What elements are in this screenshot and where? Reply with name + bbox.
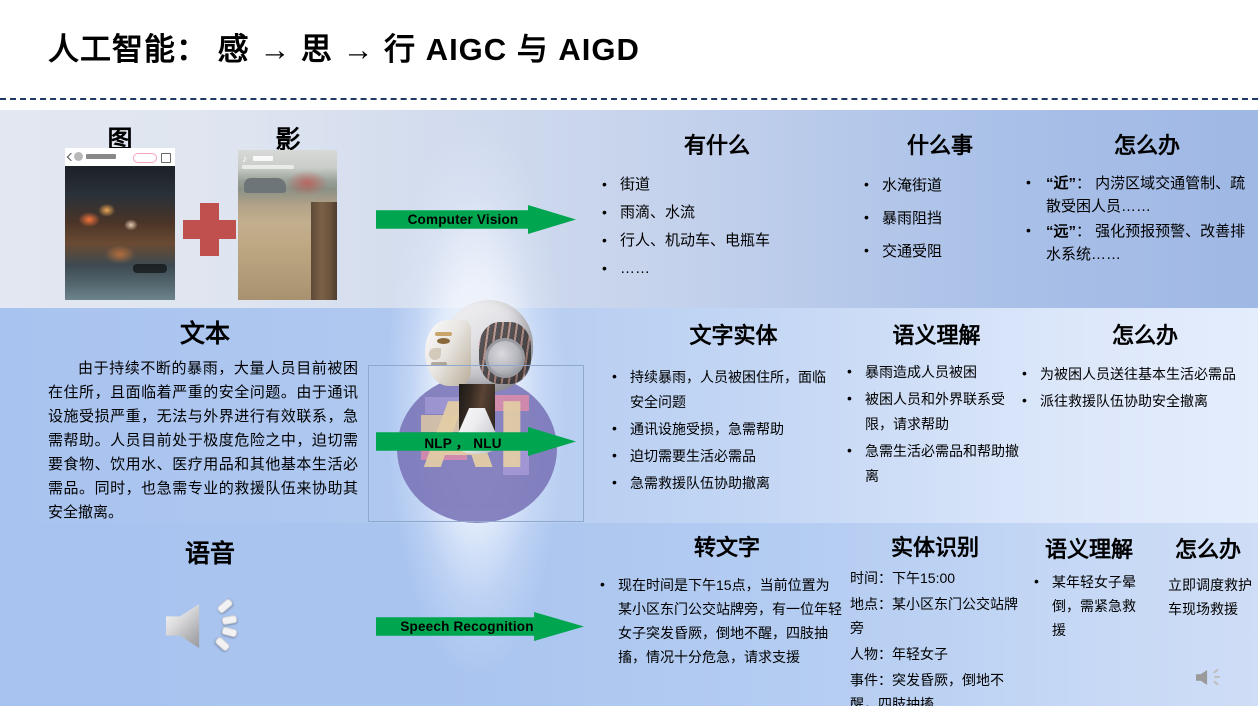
bullet-list-what-happened: 水淹街道 暴雨阻挡 交通受阻 [862,170,1037,269]
photo-image-night-flood [65,166,175,300]
list-item: 交通受阻 [862,236,1037,267]
title-divider [0,98,1258,100]
photo-app-header [65,148,175,166]
bullet-list-transcription: 现在时间是下午15点，当前位置为某小区东门公交站牌旁，有一位年轻女子突发昏厥，倒… [598,573,843,671]
douyin-account-placeholder [253,156,273,161]
photo-flood-night [65,148,175,300]
bullet-list-what-to-do-text: 为被困人员送往基本生活必需品 派往救援队伍协助安全撤离 [1020,362,1245,416]
account-name-placeholder [86,154,116,159]
arrow-speech-recognition: Speech Recognition [376,612,584,641]
photo-flood-day-video: ♪ [238,150,337,300]
list-item: 现在时间是下午15点，当前位置为某小区东门公交站牌旁，有一位年轻女子突发昏厥，倒… [598,573,843,669]
list-item-rest: ： 强化预报预警、改善排水系统…… [1046,223,1245,263]
douyin-caption-placeholder [242,165,294,169]
list-item: 暴雨阻挡 [862,203,1037,234]
list-item: 派往救援队伍协助安全撤离 [1020,389,1245,414]
list-item: 迫切需要生活必需品 [610,444,835,469]
bullet-list-entity-recognition: 时间：下午15:00 地点：某小区东门公交站牌旁 人物：年轻女子 事件：突发昏厥… [850,566,1020,706]
photo-watermark-tag [133,264,167,273]
source-text-paragraph: 由于持续不断的暴雨，大量人员目前被困在住所，且面临着严重的安全问题。由于通讯设施… [48,357,358,525]
list-item: 雨滴、水流 [600,200,850,226]
list-item: 地点：某小区东门公交站牌旁 [850,592,1020,640]
list-item-rest: ： 内涝区域交通管制、疏散受困人员…… [1046,175,1245,215]
modality-label-text: 文本 [155,314,255,350]
column-head-what-exists: 有什么 [632,128,802,160]
column-head-semantics-text: 语义理解 [864,318,1009,350]
list-item: 急需救援队伍协助撤离 [610,471,835,496]
modality-label-speech: 语音 [160,534,260,570]
list-item: 持续暴雨，人员被困住所，面临安全问题 [610,365,835,415]
speaker-icon [162,590,250,662]
bullet-list-what-to-do-vision: “近”： 内涝区域交通管制、疏散受困人员…… “远”： 强化预报预警、改善排水系… [1020,172,1258,268]
list-item: 为被困人员送往基本生活必需品 [1020,362,1245,387]
photo-car-shape [244,178,286,193]
arrow-nlp-nlu: NLP ， NLU [376,427,576,456]
list-item: 通讯设施受损，急需帮助 [610,417,835,442]
list-item: 暴雨造成人员被困 [845,360,1027,385]
list-item: 人物：年轻女子 [850,642,1020,666]
column-head-what-to-do-text: 怎么办 [1090,318,1200,350]
page-title: 人工智能： 感 → 思 → 行 AIGC 与 AIGD [48,24,640,69]
column-head-entity-recognition: 实体识别 [865,530,1005,562]
column-head-semantics-speech: 语义理解 [1024,532,1154,564]
arrow-label: Speech Recognition [400,619,533,634]
arrow-label: Computer Vision [408,212,519,227]
list-item-ellipsis: …… [600,256,850,282]
photo-tree-shape [311,202,337,300]
arrow-label: NLP ， NLU [424,432,501,452]
bullet-list-semantics-text: 暴雨造成人员被困 被困人员和外界联系受限，请求帮助 急需生活必需品和帮助撤离 [845,360,1027,491]
list-item: “远”： 强化预报预警、改善排水系统…… [1020,220,1258,266]
list-item: 被困人员和外界联系受限，请求帮助 [845,387,1027,437]
column-head-transcription: 转文字 [672,530,782,562]
avatar [74,152,83,161]
list-item: 立即调度救护车现场救援 [1168,573,1258,621]
list-item: 某年轻女子晕倒，需紧急救援 [1032,570,1142,642]
bullet-list-text-entities: 持续暴雨，人员被困住所，面临安全问题 通讯设施受损，急需帮助 迫切需要生活必需品… [610,365,835,498]
list-item: 水淹街道 [862,170,1037,201]
follow-button[interactable] [133,153,157,163]
list-item: 街道 [600,172,850,198]
list-item: 事件：突发昏厥，倒地不醒，四肢抽搐 [850,668,1020,706]
bullet-list-semantics-speech: 某年轻女子晕倒，需紧急救援 [1032,570,1142,644]
title-bar: 人工智能： 感 → 思 → 行 AIGC 与 AIGD [0,0,1258,99]
plus-icon [183,203,236,256]
list-item: 行人、机动车、电瓶车 [600,228,850,254]
list-item-strong: “近” [1046,175,1076,192]
list-item: “近”： 内涝区域交通管制、疏散受困人员…… [1020,172,1258,218]
arrow-computer-vision: Computer Vision [376,205,576,234]
share-icon[interactable] [161,153,171,163]
bullet-list-what-to-do-speech: 立即调度救护车现场救援 [1168,573,1258,623]
column-head-text-entities: 文字实体 [661,318,806,350]
list-item: 时间：下午15:00 [850,566,1020,590]
bullet-list-what-exists: 街道 雨滴、水流 行人、机动车、电瓶车 …… [600,172,850,284]
douyin-logo-icon: ♪ [242,154,251,165]
slide-canvas: 人工智能： 感 → 思 → 行 AIGC 与 AIGD 图 影 ♪ Com [0,0,1258,706]
list-item: 急需生活必需品和帮助撤离 [845,439,1027,489]
list-item-strong: “远” [1046,223,1076,240]
column-head-what-happened: 什么事 [885,128,995,160]
column-head-what-to-do-vision: 怎么办 [1092,128,1202,160]
mini-speaker-icon[interactable] [1196,666,1222,690]
column-head-what-to-do-speech: 怎么办 [1168,532,1248,564]
